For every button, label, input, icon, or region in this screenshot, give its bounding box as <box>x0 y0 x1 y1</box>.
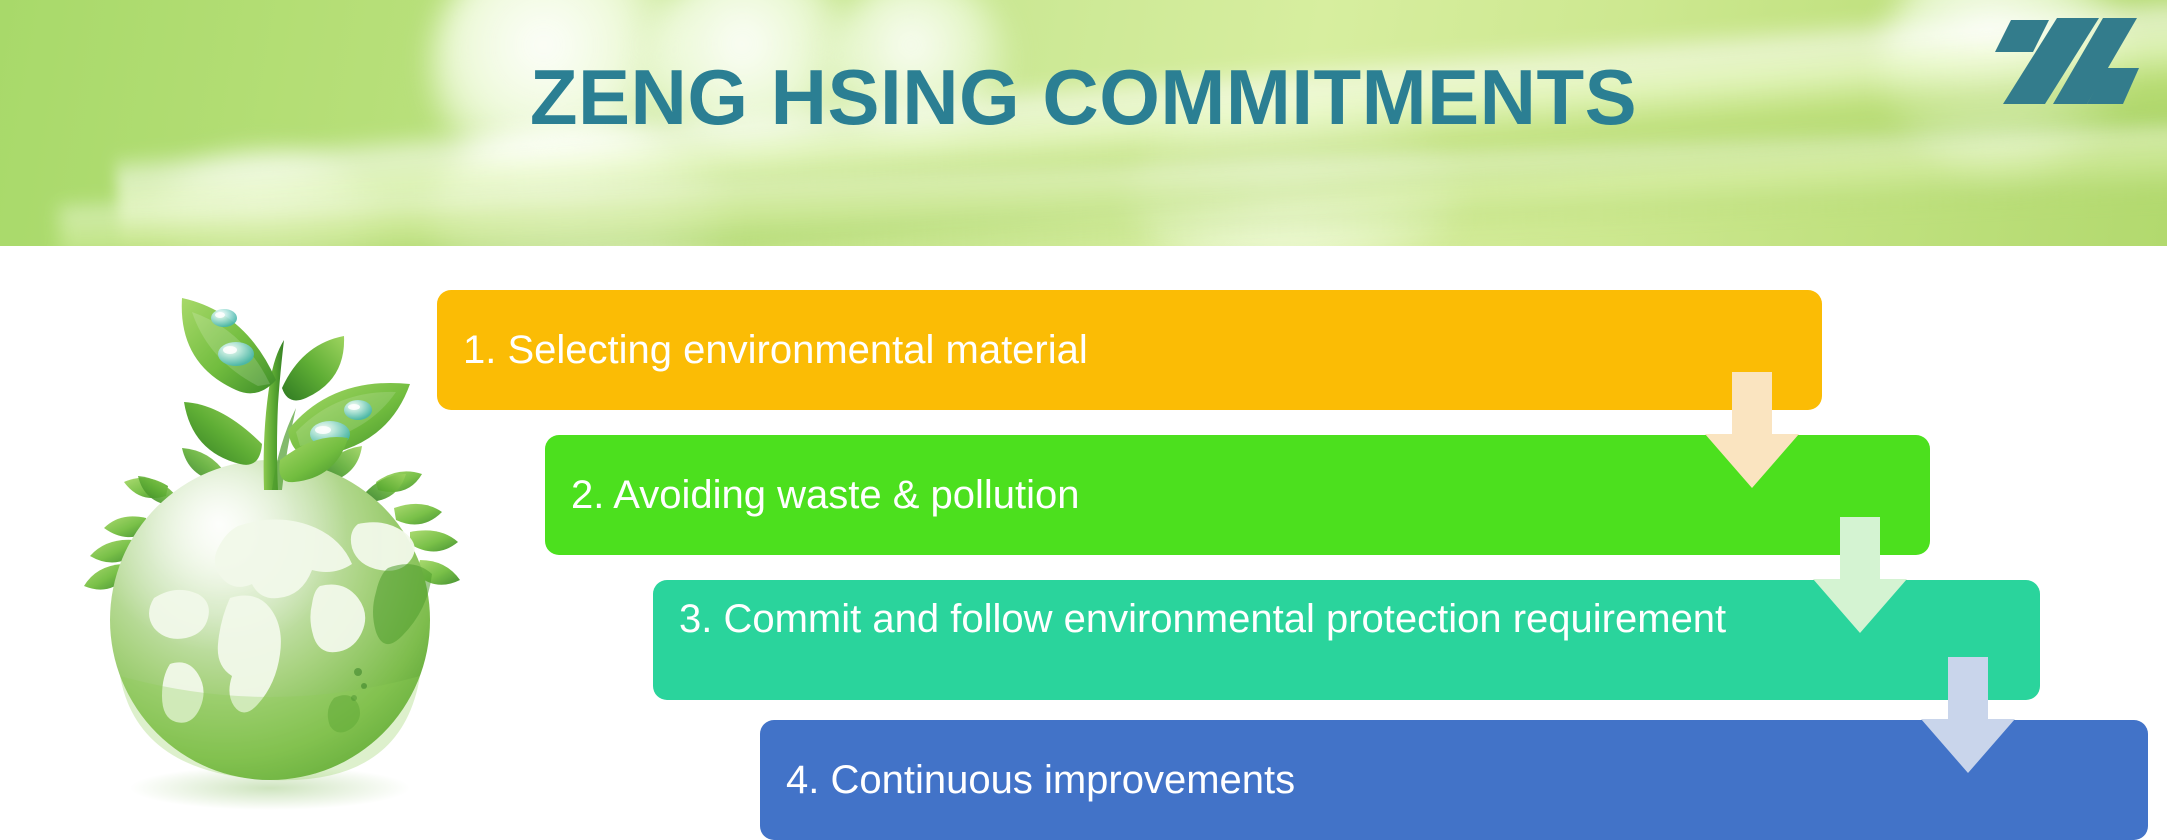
zeng-hsing-z-logo <box>1987 8 2142 118</box>
commitment-bar-2[interactable]: 2. Avoiding waste & pollution <box>545 435 1930 555</box>
green-globe-with-sprout-icon <box>58 268 478 838</box>
commitment-bar-3[interactable]: 3. Commit and follow environmental prote… <box>653 580 2040 700</box>
header-banner: ZENG HSING COMMITMENTS <box>0 0 2167 246</box>
content-area: 1. Selecting environmental material 2. A… <box>0 246 2167 840</box>
commitment-bar-1-label: 1. Selecting environmental material <box>463 329 1088 372</box>
dew-drop-blob <box>150 150 380 246</box>
commitment-bar-4[interactable]: 4. Continuous improvements <box>760 720 2148 840</box>
commitment-bar-1[interactable]: 1. Selecting environmental material <box>437 290 1822 410</box>
commitment-bar-2-label: 2. Avoiding waste & pollution <box>571 474 1080 517</box>
commitment-bar-4-label: 4. Continuous improvements <box>786 759 1295 802</box>
page-title: ZENG HSING COMMITMENTS <box>0 52 2167 143</box>
commitment-bar-3-label: 3. Commit and follow environmental prote… <box>679 598 1726 641</box>
